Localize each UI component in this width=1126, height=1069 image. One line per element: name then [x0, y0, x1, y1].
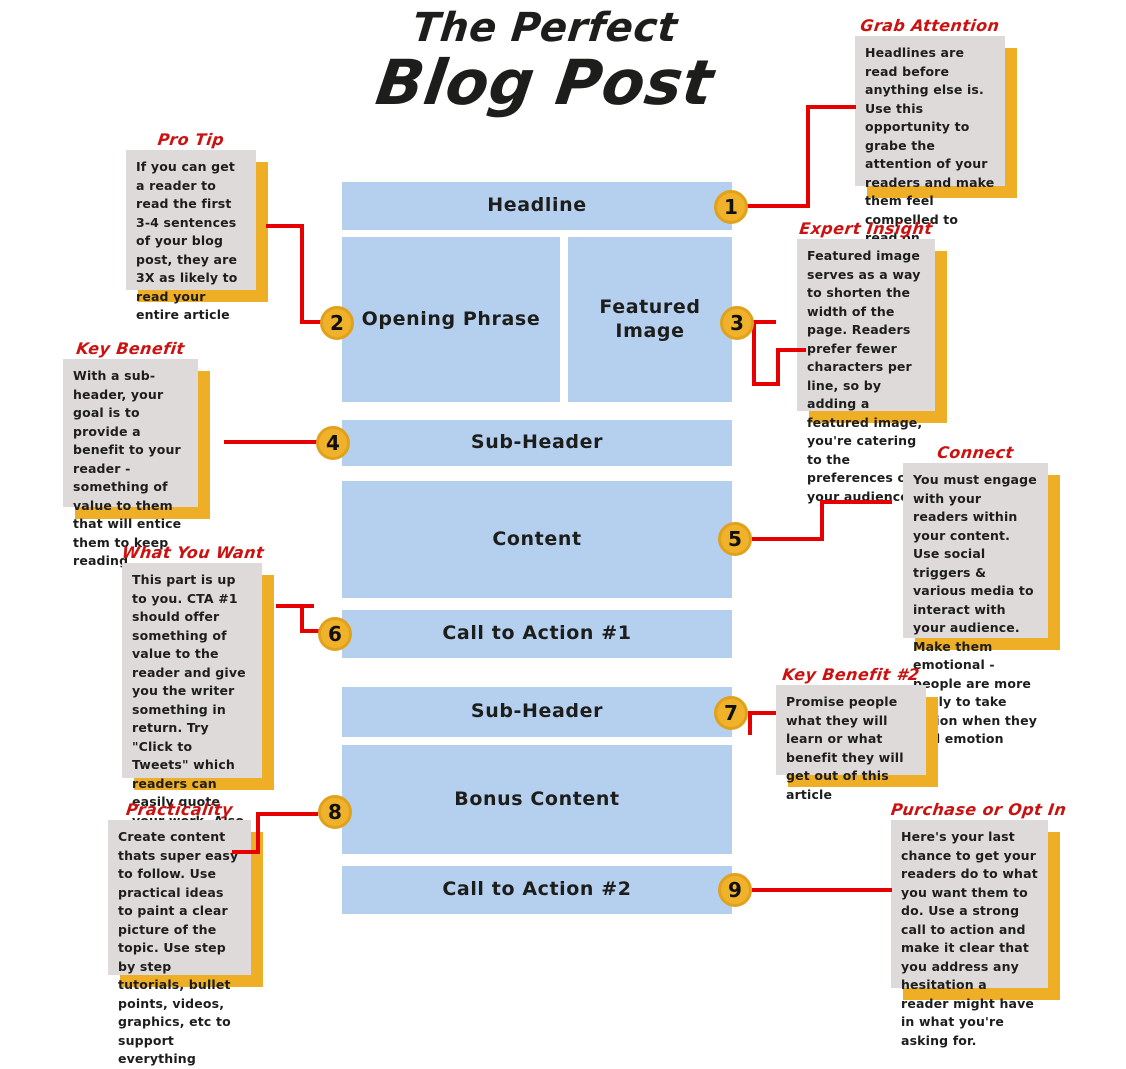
- page-title: The Perfect Blog Post: [330, 8, 760, 115]
- badge-7-number: 7: [724, 701, 738, 725]
- connector-9-seg-h: [752, 888, 892, 892]
- block-cta-2[interactable]: Call to Action #2: [342, 866, 732, 914]
- connector-7-seg-h1: [748, 711, 776, 715]
- block-bonus-content-label: Bonus Content: [454, 788, 619, 812]
- callout-purchase-or-opt-in-body: Here's your last chance to get your read…: [891, 820, 1048, 988]
- badge-8-number: 8: [328, 800, 342, 824]
- callout-key-benefit-2: Key Benefit #2 Promise people what they …: [776, 665, 926, 775]
- connector-8-seg-v: [256, 812, 260, 854]
- callout-connect-heading: Connect: [902, 443, 1049, 462]
- badge-2[interactable]: 2: [320, 306, 354, 340]
- connector-1-seg-h1: [746, 204, 810, 208]
- badge-5-number: 5: [728, 527, 742, 551]
- callout-expert-insight: Expert Insight Featured image serves as …: [797, 219, 935, 411]
- badge-2-number: 2: [330, 311, 344, 335]
- callout-practicality: Practicality Create content thats super …: [108, 800, 251, 975]
- callout-expert-insight-body: Featured image serves as a way to shorte…: [797, 239, 935, 411]
- connector-1-seg-h2: [806, 105, 856, 109]
- connector-3-seg-v1: [752, 320, 756, 386]
- badge-1[interactable]: 1: [714, 190, 748, 224]
- badge-5[interactable]: 5: [718, 522, 752, 556]
- callout-what-you-want-body: This part is up to you. CTA #1 should of…: [122, 563, 262, 778]
- block-sub-header-2-label: Sub-Header: [471, 700, 603, 724]
- connector-5-seg-v: [820, 500, 824, 541]
- callout-connect: Connect You must engage with your reader…: [903, 443, 1048, 638]
- connector-8-seg-h2: [232, 850, 260, 854]
- badge-3-number: 3: [730, 311, 744, 335]
- title-line-1: The Perfect: [328, 8, 762, 48]
- badge-3[interactable]: 3: [720, 306, 754, 340]
- callout-pro-tip: Pro Tip If you can get a reader to read …: [126, 130, 256, 290]
- callout-expert-insight-heading: Expert Insight: [796, 219, 936, 238]
- connector-5-seg-h1: [752, 537, 824, 541]
- connector-7-seg-v: [748, 711, 752, 735]
- callout-grab-attention-heading: Grab Attention: [854, 16, 1006, 35]
- connector-8-seg-h1: [256, 812, 318, 816]
- block-sub-header-1-label: Sub-Header: [471, 431, 603, 455]
- block-cta-1[interactable]: Call to Action #1: [342, 610, 732, 658]
- connector-6-seg-h1: [276, 604, 314, 608]
- callout-key-benefit-heading: Key Benefit: [62, 339, 199, 358]
- callout-key-benefit: Key Benefit With a sub-header, your goal…: [63, 339, 198, 507]
- callout-what-you-want: What You Want This part is up to you. CT…: [122, 543, 262, 778]
- connector-4-seg-h: [224, 440, 324, 444]
- callout-key-benefit-body: With a sub-header, your goal is to provi…: [63, 359, 198, 507]
- connector-5-seg-h2: [820, 500, 892, 504]
- badge-6[interactable]: 6: [318, 617, 352, 651]
- callout-connect-body: You must engage with your readers within…: [903, 463, 1048, 638]
- badge-9-number: 9: [728, 878, 742, 902]
- block-cta-1-label: Call to Action #1: [442, 622, 631, 646]
- block-opening-phrase-label: Opening Phrase: [362, 308, 541, 332]
- block-featured-image-label-2: Image: [615, 320, 684, 344]
- connector-3-seg-v2: [776, 348, 780, 386]
- block-content-label: Content: [492, 528, 581, 552]
- title-line-2: Blog Post: [325, 50, 764, 115]
- connector-6-seg-v: [300, 604, 304, 632]
- callout-pro-tip-body: If you can get a reader to read the firs…: [126, 150, 256, 290]
- block-content[interactable]: Content: [342, 481, 732, 598]
- connector-3-seg-h3: [776, 348, 806, 352]
- block-featured-image[interactable]: Featured Image: [568, 237, 732, 402]
- connector-2-seg-h2: [266, 224, 304, 228]
- callout-pro-tip-heading: Pro Tip: [125, 130, 257, 149]
- block-headline[interactable]: Headline: [342, 182, 732, 230]
- callout-grab-attention-body: Headlines are read before anything else …: [855, 36, 1005, 186]
- badge-1-number: 1: [724, 195, 738, 219]
- connector-1-seg-v: [806, 105, 810, 208]
- callout-grab-attention: Grab Attention Headlines are read before…: [855, 16, 1005, 186]
- badge-7[interactable]: 7: [714, 696, 748, 730]
- infographic-canvas: The Perfect Blog Post Headline Opening P…: [0, 0, 1126, 1000]
- badge-9[interactable]: 9: [718, 873, 752, 907]
- badge-6-number: 6: [328, 622, 342, 646]
- block-opening-phrase[interactable]: Opening Phrase: [342, 237, 560, 402]
- block-sub-header-2[interactable]: Sub-Header: [342, 687, 732, 737]
- badge-8[interactable]: 8: [318, 795, 352, 829]
- callout-practicality-body: Create content thats super easy to follo…: [108, 820, 251, 975]
- connector-2-seg-v: [300, 224, 304, 324]
- callout-key-benefit-2-heading: Key Benefit #2: [775, 665, 927, 684]
- badge-4-number: 4: [326, 431, 340, 455]
- callout-key-benefit-2-body: Promise people what they will learn or w…: [776, 685, 926, 775]
- block-featured-image-label-1: Featured: [599, 296, 700, 320]
- badge-4[interactable]: 4: [316, 426, 350, 460]
- callout-practicality-heading: Practicality: [107, 800, 252, 819]
- callout-purchase-or-opt-in-heading: Purchase or Opt In: [890, 800, 1049, 819]
- block-bonus-content[interactable]: Bonus Content: [342, 745, 732, 854]
- block-headline-label: Headline: [487, 194, 586, 218]
- block-sub-header-1[interactable]: Sub-Header: [342, 420, 732, 466]
- callout-what-you-want-heading: What You Want: [121, 543, 263, 562]
- block-cta-2-label: Call to Action #2: [442, 878, 631, 902]
- callout-purchase-or-opt-in: Purchase or Opt In Here's your last chan…: [891, 800, 1048, 988]
